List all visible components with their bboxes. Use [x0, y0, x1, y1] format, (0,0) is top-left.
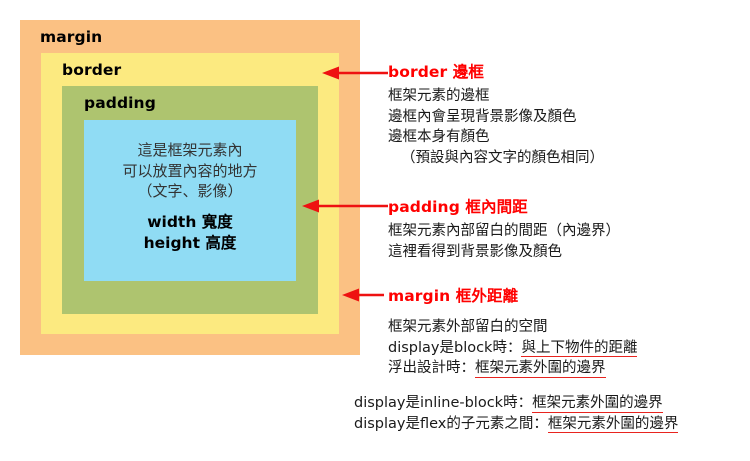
annotation-body-extra-rules: display是inline-block時：框架元素外圍的邊界 display是…: [354, 393, 678, 434]
annotation-body-border: 框架元素的邊框 邊框內會呈現背景影像及顏色 邊框本身有顏色 （預設與內容文字的顏…: [388, 86, 604, 168]
annotation-rule-line: 浮出設計時：框架元素外圍的邊界: [388, 358, 637, 379]
annotation-line: 這裡看得到背景影像及顏色: [388, 242, 620, 263]
arrow-to-border-icon: [320, 64, 390, 82]
content-width-label: width 寬度: [84, 212, 296, 233]
padding-layer-label: padding: [84, 94, 156, 112]
rule-prefix: display是inline-block時：: [354, 395, 532, 411]
annotation-line: 框架元素內部留白的間距（內邊界）: [388, 221, 620, 242]
annotation-line: 邊框本身有顏色: [388, 127, 604, 148]
annotation-heading-border: border 邊框: [388, 60, 484, 82]
rule-underlined: 框架元素外圍的邊界: [532, 395, 663, 413]
box-model-diagram: margin border padding 這是框架元素內 可以放置內容的地方 …: [20, 20, 360, 355]
arrow-to-padding-icon: [300, 197, 390, 215]
rule-prefix: 浮出設計時：: [388, 360, 475, 376]
annotation-line: 框架元素外部留白的空間: [388, 317, 637, 338]
annotation-line: 框架元素的邊框: [388, 86, 604, 107]
rule-prefix: display是block時：: [388, 340, 521, 356]
annotation-rule-line: display是inline-block時：框架元素外圍的邊界: [354, 393, 678, 414]
annotation-body-margin: 框架元素外部留白的空間 display是block時：與上下物件的距離 浮出設計…: [388, 317, 637, 379]
arrow-to-margin-icon: [340, 286, 388, 304]
annotation-line: 邊框內會呈現背景影像及顏色: [388, 107, 604, 128]
border-layer-label: border: [62, 61, 121, 79]
content-line: 可以放置內容的地方: [84, 161, 296, 182]
rule-underlined: 框架元素外圍的邊界: [548, 416, 679, 434]
rule-underlined: 框架元素外圍的邊界: [475, 360, 606, 378]
content-text-block: 這是框架元素內 可以放置內容的地方 （文字、影像） width 寬度 heigh…: [84, 140, 296, 255]
annotation-rule-line: display是block時：與上下物件的距離: [388, 338, 637, 359]
content-height-label: height 高度: [84, 233, 296, 254]
annotation-rule-line: display是flex的子元素之間：框架元素外圍的邊界: [354, 414, 678, 435]
annotation-heading-margin: margin 框外距離: [388, 284, 518, 306]
annotation-body-padding: 框架元素內部留白的間距（內邊界） 這裡看得到背景影像及顏色: [388, 221, 620, 262]
content-layer: 這是框架元素內 可以放置內容的地方 （文字、影像） width 寬度 heigh…: [84, 120, 296, 281]
content-line: （文字、影像）: [84, 181, 296, 202]
rule-underlined: 與上下物件的距離: [521, 340, 637, 358]
margin-layer-label: margin: [40, 28, 102, 46]
annotation-line: （預設與內容文字的顏色相同）: [388, 148, 604, 169]
content-dimensions: width 寬度 height 高度: [84, 212, 296, 255]
rule-prefix: display是flex的子元素之間：: [354, 416, 548, 432]
annotation-heading-padding: padding 框內間距: [388, 195, 528, 217]
content-line: 這是框架元素內: [84, 140, 296, 161]
